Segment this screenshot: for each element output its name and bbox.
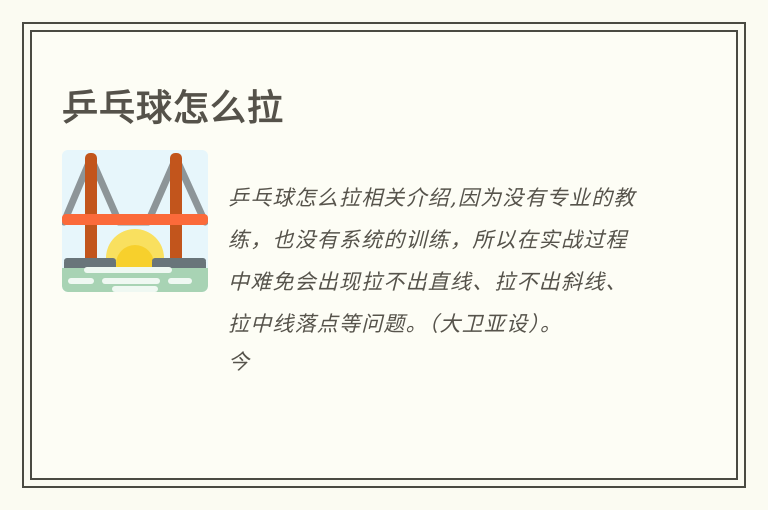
- article-page: 乒乓球怎么拉: [0, 0, 768, 510]
- article-body-text: 乒乓球怎么拉相关介绍,因为没有专业的教练，也没有系统的训练，所以在实战过程中难免…: [228, 177, 648, 379]
- article-body-main: 乒乓球怎么拉相关介绍,因为没有专业的教练，也没有系统的训练，所以在实战过程中难免…: [228, 186, 635, 336]
- bridge-illustration-icon: [62, 150, 208, 292]
- article-body-tail: 今: [228, 345, 648, 379]
- page-title: 乒乓球怎么拉: [62, 84, 284, 132]
- article-content: 乒乓球怎么拉: [30, 30, 738, 480]
